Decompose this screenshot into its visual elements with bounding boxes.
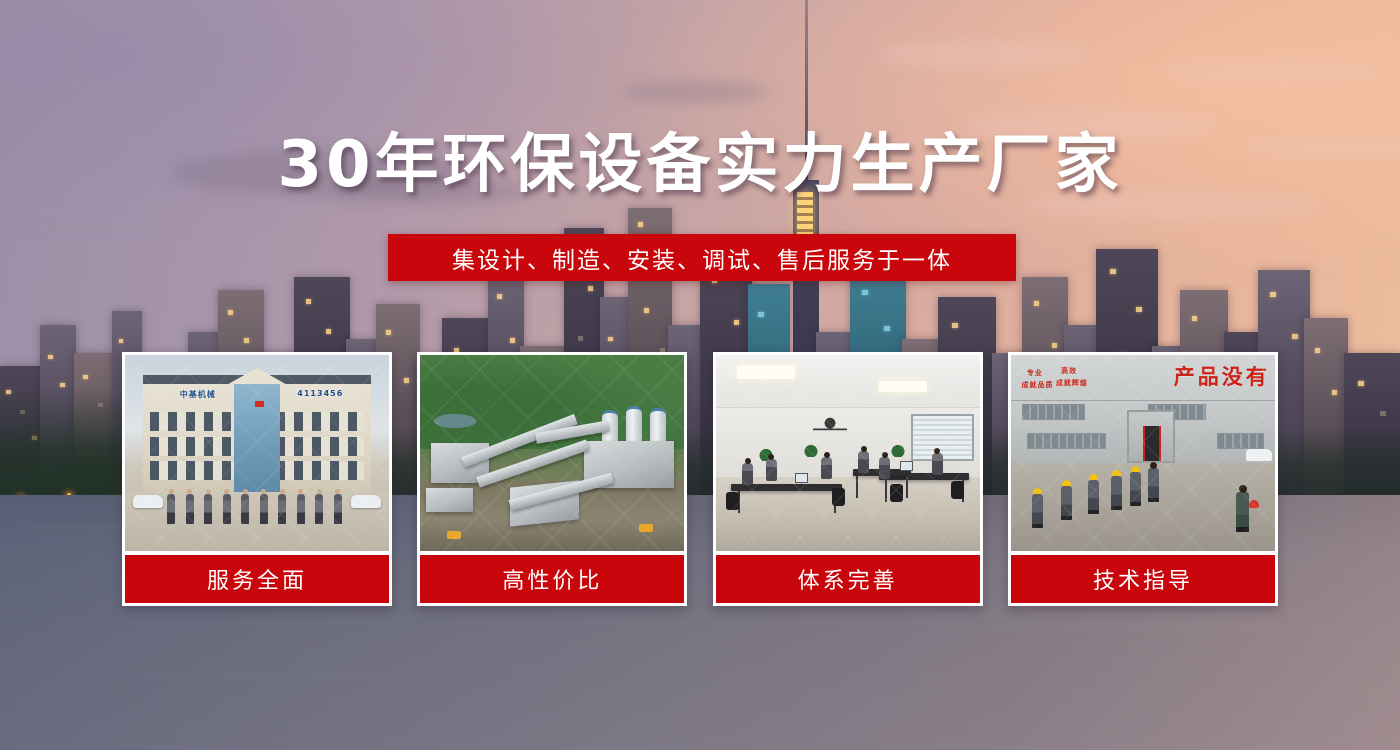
wall-decal (813, 414, 847, 440)
worker (1061, 486, 1072, 520)
card-caption-text: 体系完善 (798, 563, 898, 595)
worker (1130, 472, 1141, 506)
worker (1111, 476, 1122, 510)
window-blinds (911, 414, 974, 461)
factory-wall-slogan: 产品没有 (1174, 361, 1270, 391)
worker (1088, 480, 1099, 514)
ceiling (716, 355, 980, 408)
office-worker (742, 463, 753, 485)
card-photo-factory-workers: 产品没有 专业 成就品质 高效 成就辉煌 (1011, 355, 1275, 551)
cloud (880, 40, 1090, 70)
flag-icon (255, 401, 264, 407)
car (1246, 449, 1272, 461)
card-photo-office-building: 中基机械 4113456 (125, 355, 389, 551)
car (133, 495, 163, 508)
card-caption-text: 服务全面 (207, 563, 307, 595)
hero-banner: 30年环保设备实力生产厂家 集设计、制造、安装、调试、售后服务于一体 中基机械 … (0, 0, 1400, 750)
card-caption-text: 技术指导 (1093, 563, 1193, 595)
chair (890, 484, 903, 502)
factory-wall-slogan-small: 高效 (1061, 367, 1077, 376)
chair (726, 492, 739, 510)
factory-wall-slogan-small: 成就辉煌 (1056, 379, 1088, 388)
page-title: 30年环保设备实力生产厂家 (0, 132, 1400, 199)
card-caption-bar: 技术指导 (1011, 555, 1275, 603)
subtitle-banner: 集设计、制造、安装、调试、售后服务于一体 (388, 234, 1016, 281)
factory-window (1217, 433, 1265, 449)
feature-card-guidance[interactable]: 产品没有 专业 成就品质 高效 成就辉煌 (1008, 352, 1278, 606)
building-sign-text: 中基机械 (180, 389, 216, 400)
factory-window (1022, 404, 1085, 420)
feature-card-system[interactable]: 体系完善 (713, 352, 983, 606)
office-worker (766, 459, 777, 481)
worker (1148, 468, 1159, 502)
cloud (620, 82, 770, 102)
office-worker (932, 453, 943, 475)
factory-wall-slogan-small: 专业 (1027, 369, 1043, 378)
office-worker (821, 457, 832, 479)
cloud (1160, 58, 1390, 86)
feature-card-list: 中基机械 4113456 (122, 352, 1278, 606)
red-helmet (1249, 500, 1259, 508)
card-photo-plant-aerial (420, 355, 684, 551)
potted-plant (890, 443, 906, 457)
card-caption-text: 高性价比 (502, 563, 602, 595)
supervisor (1236, 492, 1249, 532)
pond (434, 414, 476, 428)
building-plaza (125, 492, 389, 551)
subtitle-text: 集设计、制造、安装、调试、售后服务于一体 (452, 241, 952, 275)
factory-wall-slogan-small: 成就品质 (1022, 381, 1054, 390)
card-caption-bar: 高性价比 (420, 555, 684, 603)
excavator (639, 524, 653, 532)
feature-card-service[interactable]: 中基机械 4113456 (122, 352, 392, 606)
ceiling-light (879, 381, 927, 393)
office-worker (879, 457, 890, 479)
feature-card-value[interactable]: 高性价比 (417, 352, 687, 606)
monitor (900, 461, 913, 471)
monitor (795, 473, 808, 483)
factory-window (1027, 433, 1106, 449)
ceiling-light (737, 365, 795, 379)
car (351, 495, 381, 508)
building-phone-text: 4113456 (297, 389, 343, 398)
card-caption-bar: 体系完善 (716, 555, 980, 603)
building-atrium (234, 384, 279, 495)
office-building: 中基机械 4113456 (143, 381, 370, 495)
factory-entry (1143, 426, 1161, 461)
chair (951, 481, 964, 499)
card-caption-bar: 服务全面 (125, 555, 389, 603)
card-photo-office-interior (716, 355, 980, 551)
worker (1032, 494, 1043, 528)
office-worker (858, 451, 869, 473)
excavator (447, 531, 461, 539)
potted-plant (803, 443, 819, 457)
desk (731, 484, 842, 491)
warehouse (426, 488, 474, 512)
chair (832, 488, 845, 506)
